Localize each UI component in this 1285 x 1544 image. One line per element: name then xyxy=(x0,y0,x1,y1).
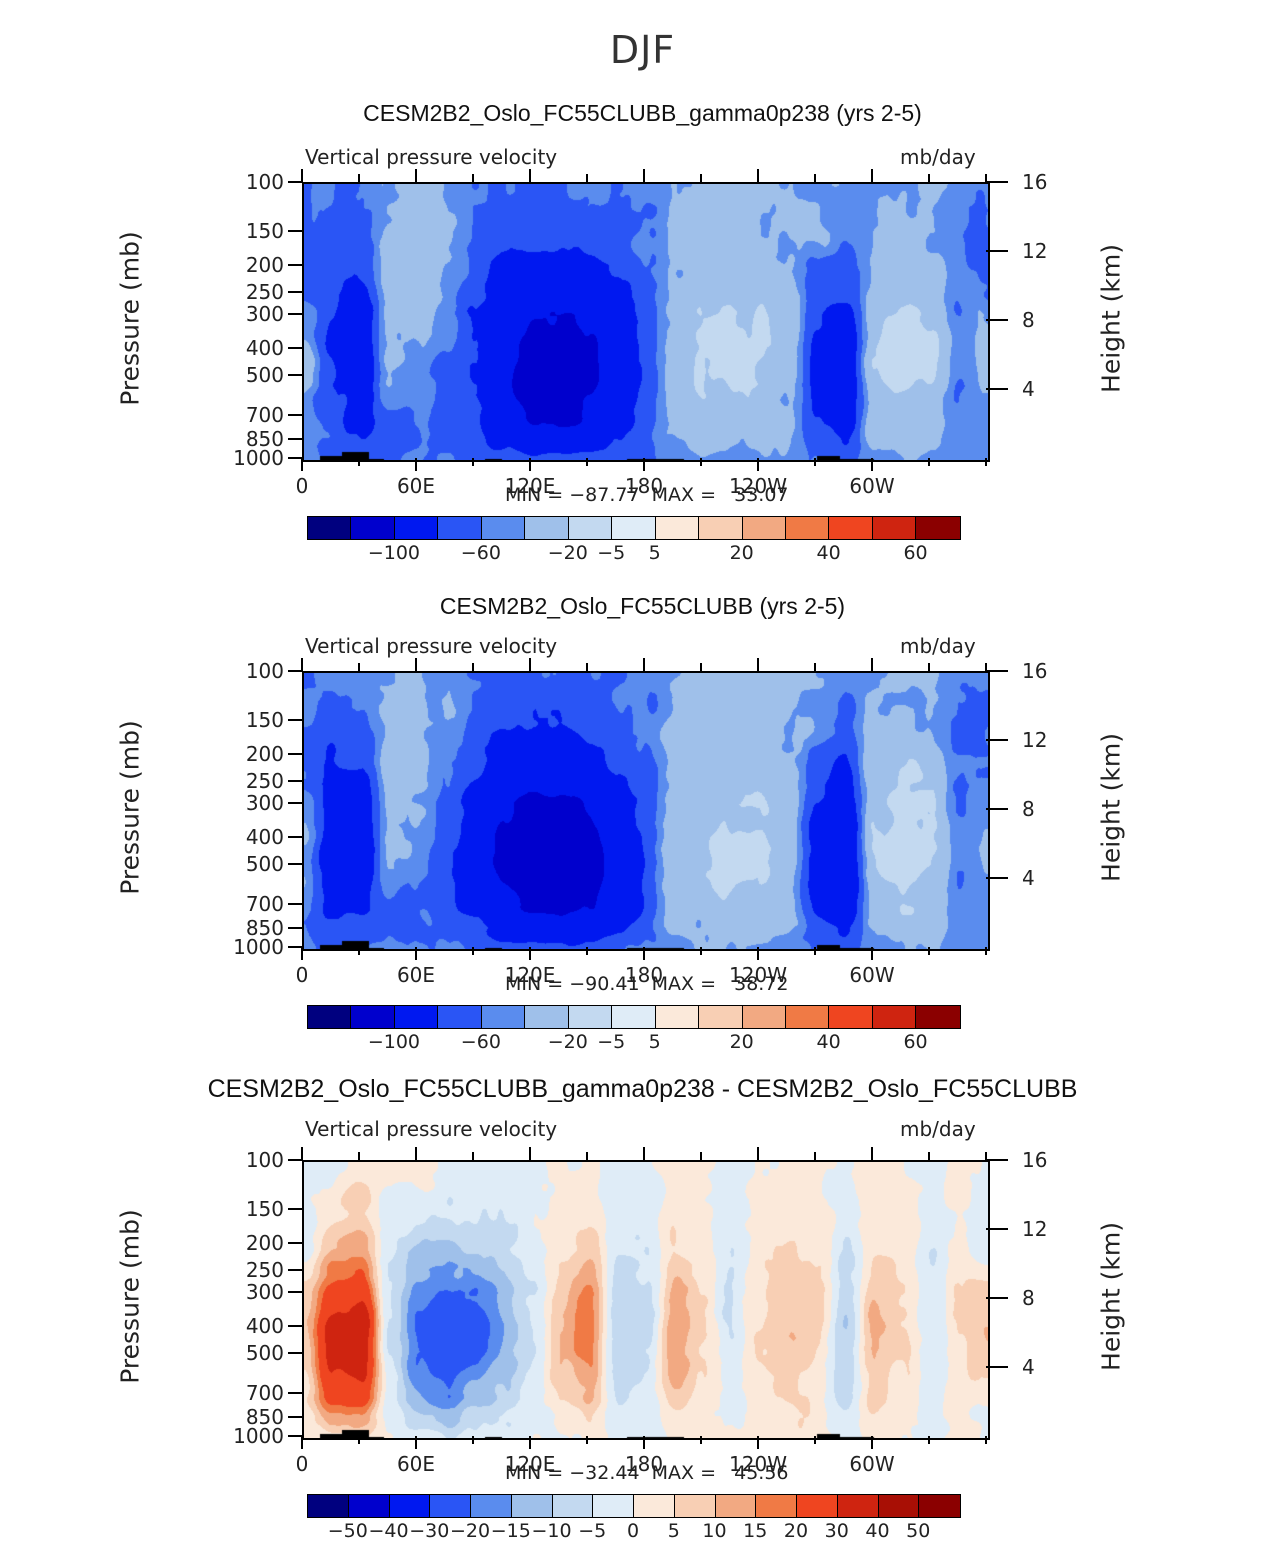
colorbar-segment xyxy=(351,1006,394,1028)
max-label: MAX = xyxy=(640,973,723,995)
pressure-tick-label: 1000 xyxy=(222,1424,284,1448)
colorbar-segment xyxy=(743,517,786,539)
pressure-tick-label: 500 xyxy=(222,363,284,387)
pressure-tick-label: 150 xyxy=(222,708,284,732)
lon-tick-mark xyxy=(586,458,588,466)
lon-tick-mark-top xyxy=(358,1152,360,1160)
pressure-tick-mark xyxy=(288,753,302,755)
colorbar-labels: −100−60−20−55204060 xyxy=(307,1031,959,1055)
colorbar-tick-label: −15 xyxy=(491,1520,531,1542)
max-label: MAX = xyxy=(640,484,723,506)
lon-tick-mark xyxy=(415,458,417,471)
lon-tick-label: 60W xyxy=(849,474,894,498)
colorbar-segment xyxy=(593,1495,634,1517)
pressure-tick-label: 700 xyxy=(222,1381,284,1405)
colorbar-segment xyxy=(873,517,916,539)
lon-tick-mark xyxy=(301,1436,303,1449)
lon-tick-mark xyxy=(415,947,417,960)
lon-tick-mark xyxy=(358,458,360,466)
min-max-annotation: MIN = −90.41 MAX = 38.72 xyxy=(505,973,789,995)
lon-tick-mark xyxy=(472,1436,474,1444)
colorbar-segment xyxy=(829,517,872,539)
pressure-tick-mark xyxy=(288,1291,302,1293)
lon-tick-mark-top xyxy=(985,174,987,182)
height-tick-mark xyxy=(986,808,1008,810)
lon-tick-mark-top xyxy=(928,1152,930,1160)
pressure-tick-mark xyxy=(288,1416,302,1418)
lon-tick-label: 0 xyxy=(296,963,309,987)
height-tick-mark xyxy=(986,319,1008,321)
lon-tick-mark xyxy=(643,1436,645,1449)
colorbar-segment xyxy=(873,1006,916,1028)
colorbar-segment xyxy=(916,1006,959,1028)
colorbar-segment xyxy=(482,517,525,539)
pressure-tick-label: 500 xyxy=(222,1341,284,1365)
y2-axis-label: Height (km) xyxy=(1097,713,1126,903)
colorbar-segment xyxy=(308,517,351,539)
lon-tick-mark xyxy=(757,1436,759,1449)
colorbar xyxy=(307,1494,961,1518)
units-label: mb/day xyxy=(900,634,976,658)
height-tick-label: 16 xyxy=(1022,659,1047,683)
pressure-tick-mark xyxy=(288,414,302,416)
lon-tick-label: 0 xyxy=(296,474,309,498)
colorbar-segment xyxy=(786,1006,829,1028)
colorbar xyxy=(307,1005,961,1029)
colorbar-tick-label: −60 xyxy=(461,542,501,564)
lon-tick-mark xyxy=(757,947,759,960)
colorbar-tick-label: −10 xyxy=(531,1520,571,1542)
colorbar-tick-label: −100 xyxy=(368,542,420,564)
colorbar-segment xyxy=(430,1495,471,1517)
min-value: −90.41 xyxy=(569,973,639,995)
colorbar-segment xyxy=(553,1495,594,1517)
colorbar-segment xyxy=(656,1006,699,1028)
pressure-tick-mark xyxy=(288,438,302,440)
lon-tick-mark xyxy=(757,458,759,471)
pressure-tick-label: 250 xyxy=(222,769,284,793)
pressure-tick-label: 700 xyxy=(222,403,284,427)
pressure-tick-label: 500 xyxy=(222,852,284,876)
max-value: 38.72 xyxy=(722,973,788,995)
lon-tick-mark-top xyxy=(586,174,588,182)
plot-area xyxy=(302,671,990,951)
pressure-tick-label: 1000 xyxy=(222,935,284,959)
colorbar-tick-label: 50 xyxy=(906,1520,930,1542)
lon-tick-mark-top xyxy=(985,663,987,671)
pressure-tick-label: 250 xyxy=(222,280,284,304)
colorbar-tick-label: 5 xyxy=(649,1031,661,1053)
colorbar-segment xyxy=(438,517,481,539)
lon-tick-mark-top xyxy=(472,663,474,671)
colorbar-segment xyxy=(308,1495,349,1517)
colorbar-tick-label: −5 xyxy=(578,1520,606,1542)
min-max-annotation: MIN = −87.77 MAX = 33.07 xyxy=(505,484,789,506)
colorbar-segment xyxy=(438,1006,481,1028)
lon-tick-mark xyxy=(358,947,360,955)
colorbar-segment xyxy=(634,1495,675,1517)
colorbar-tick-label: −5 xyxy=(597,1031,625,1053)
colorbar-tick-label: 40 xyxy=(817,1031,841,1053)
colorbar-tick-label: 0 xyxy=(627,1520,639,1542)
height-tick-mark xyxy=(986,181,1008,183)
colorbar-segment xyxy=(569,517,612,539)
lon-tick-mark-top xyxy=(757,658,759,671)
variable-label: Vertical pressure velocity xyxy=(305,1117,557,1141)
colorbar-labels: −100−60−20−55204060 xyxy=(307,542,959,566)
pressure-tick-mark xyxy=(288,347,302,349)
lon-tick-mark xyxy=(472,458,474,466)
pressure-tick-label: 300 xyxy=(222,302,284,326)
colorbar-tick-label: 15 xyxy=(743,1520,767,1542)
colorbar-tick-label: −100 xyxy=(368,1031,420,1053)
lon-tick-mark xyxy=(643,947,645,960)
variable-label: Vertical pressure velocity xyxy=(305,634,557,658)
colorbar-segment xyxy=(525,517,568,539)
lon-tick-mark-top xyxy=(301,658,303,671)
colorbar-segment xyxy=(829,1006,872,1028)
pressure-tick-mark xyxy=(288,1392,302,1394)
y-axis-label: Pressure (mb) xyxy=(116,219,145,419)
colorbar-tick-label: 10 xyxy=(702,1520,726,1542)
colorbar-segment xyxy=(716,1495,757,1517)
lon-tick-mark xyxy=(985,947,987,955)
lon-tick-mark xyxy=(643,458,645,471)
y-axis-label: Pressure (mb) xyxy=(116,708,145,908)
min-value: −32.44 xyxy=(569,1462,639,1484)
pressure-tick-mark xyxy=(288,1325,302,1327)
height-tick-label: 16 xyxy=(1022,170,1047,194)
lon-tick-mark-top xyxy=(586,663,588,671)
pressure-tick-label: 300 xyxy=(222,791,284,815)
lon-tick-mark xyxy=(586,947,588,955)
lon-tick-mark-top xyxy=(529,1147,531,1160)
colorbar-segment xyxy=(612,1006,655,1028)
height-tick-label: 4 xyxy=(1022,377,1035,401)
colorbar-tick-label: 5 xyxy=(649,542,661,564)
lon-tick-mark-top xyxy=(415,169,417,182)
lon-tick-mark-top xyxy=(985,1152,987,1160)
lon-tick-mark xyxy=(415,1436,417,1449)
pressure-tick-mark xyxy=(288,802,302,804)
colorbar-segment xyxy=(612,517,655,539)
height-tick-label: 4 xyxy=(1022,866,1035,890)
pressure-tick-mark xyxy=(288,780,302,782)
lon-tick-mark-top xyxy=(643,169,645,182)
pressure-tick-label: 150 xyxy=(222,1197,284,1221)
pressure-tick-mark xyxy=(288,291,302,293)
lon-tick-mark xyxy=(814,458,816,466)
colorbar-tick-label: 20 xyxy=(730,542,754,564)
pressure-tick-mark xyxy=(288,946,302,948)
lon-tick-mark xyxy=(586,1436,588,1444)
lon-tick-label: 60E xyxy=(397,963,435,987)
lon-tick-label: 60W xyxy=(849,963,894,987)
height-tick-label: 8 xyxy=(1022,1286,1035,1310)
colorbar-segment xyxy=(395,517,438,539)
colorbar-segment xyxy=(525,1006,568,1028)
lon-tick-mark-top xyxy=(700,1152,702,1160)
y2-axis-label: Height (km) xyxy=(1097,224,1126,414)
pressure-tick-label: 1000 xyxy=(222,446,284,470)
lon-tick-mark-top xyxy=(757,169,759,182)
lon-tick-mark xyxy=(985,1436,987,1444)
lon-tick-mark-top xyxy=(358,174,360,182)
panel-title: CESM2B2_Oslo_FC55CLUBB_gamma0p238 (yrs 2… xyxy=(0,100,1285,127)
pressure-tick-label: 250 xyxy=(222,1258,284,1282)
colorbar-segment xyxy=(512,1495,553,1517)
lon-tick-mark-top xyxy=(757,1147,759,1160)
lon-tick-mark xyxy=(871,458,873,471)
colorbar-segment xyxy=(390,1495,431,1517)
colorbar-tick-label: 30 xyxy=(825,1520,849,1542)
lon-tick-mark-top xyxy=(529,169,531,182)
lon-tick-mark xyxy=(700,947,702,955)
lon-tick-mark xyxy=(871,1436,873,1449)
height-tick-mark xyxy=(986,1228,1008,1230)
lon-tick-mark xyxy=(814,947,816,955)
lon-tick-mark xyxy=(985,458,987,466)
lon-tick-mark-top xyxy=(871,658,873,671)
colorbar-tick-label: −5 xyxy=(597,542,625,564)
colorbar-segment xyxy=(699,517,742,539)
lon-tick-mark-top xyxy=(928,174,930,182)
colorbar-labels: −50−40−30−20−15−10−505101520304050 xyxy=(307,1520,959,1544)
colorbar-segment xyxy=(482,1006,525,1028)
colorbar-segment xyxy=(879,1495,920,1517)
height-tick-label: 4 xyxy=(1022,1355,1035,1379)
lon-tick-mark-top xyxy=(472,174,474,182)
max-value: 45.56 xyxy=(722,1462,788,1484)
plot-area xyxy=(302,1160,990,1440)
colorbar-segment xyxy=(916,517,959,539)
pressure-tick-label: 700 xyxy=(222,892,284,916)
pressure-tick-mark xyxy=(288,374,302,376)
lon-tick-mark-top xyxy=(814,1152,816,1160)
height-tick-mark xyxy=(986,1366,1008,1368)
height-tick-label: 8 xyxy=(1022,797,1035,821)
colorbar-tick-label: −50 xyxy=(328,1520,368,1542)
height-tick-mark xyxy=(986,670,1008,672)
colorbar xyxy=(307,516,961,540)
colorbar-tick-label: 20 xyxy=(784,1520,808,1542)
pressure-tick-mark xyxy=(288,1242,302,1244)
pressure-tick-label: 200 xyxy=(222,742,284,766)
pressure-tick-mark xyxy=(288,264,302,266)
height-tick-mark xyxy=(986,1159,1008,1161)
colorbar-segment xyxy=(569,1006,612,1028)
pressure-tick-mark xyxy=(288,670,302,672)
lon-tick-mark xyxy=(301,947,303,960)
height-tick-mark xyxy=(986,388,1008,390)
colorbar-segment xyxy=(786,517,829,539)
colorbar-tick-label: 20 xyxy=(730,1031,754,1053)
colorbar-segment xyxy=(395,1006,438,1028)
pressure-tick-mark xyxy=(288,181,302,183)
colorbar-segment xyxy=(675,1495,716,1517)
lon-tick-mark-top xyxy=(643,1147,645,1160)
colorbar-segment xyxy=(797,1495,838,1517)
pressure-tick-mark xyxy=(288,1208,302,1210)
pressure-tick-label: 400 xyxy=(222,336,284,360)
colorbar-segment xyxy=(919,1495,960,1517)
lon-tick-mark-top xyxy=(415,1147,417,1160)
colorbar-tick-label: 60 xyxy=(903,1031,927,1053)
height-tick-label: 16 xyxy=(1022,1148,1047,1172)
lon-tick-mark xyxy=(928,458,930,466)
height-tick-label: 12 xyxy=(1022,728,1047,752)
colorbar-segment xyxy=(308,1006,351,1028)
pressure-tick-label: 100 xyxy=(222,1148,284,1172)
height-tick-label: 12 xyxy=(1022,1217,1047,1241)
colorbar-segment xyxy=(756,1495,797,1517)
height-tick-mark xyxy=(986,250,1008,252)
pressure-tick-mark xyxy=(288,1435,302,1437)
pressure-tick-label: 100 xyxy=(222,659,284,683)
colorbar-tick-label: −20 xyxy=(450,1520,490,1542)
lon-tick-mark xyxy=(529,947,531,960)
min-label: MIN = xyxy=(505,1462,569,1484)
units-label: mb/day xyxy=(900,145,976,169)
lon-tick-mark-top xyxy=(586,1152,588,1160)
colorbar-tick-label: 40 xyxy=(817,542,841,564)
panel-title: CESM2B2_Oslo_FC55CLUBB_gamma0p238 - CESM… xyxy=(0,1075,1285,1104)
lon-tick-mark-top xyxy=(301,1147,303,1160)
lon-tick-label: 0 xyxy=(296,1452,309,1476)
pressure-tick-mark xyxy=(288,230,302,232)
lon-tick-mark-top xyxy=(928,663,930,671)
y2-axis-label: Height (km) xyxy=(1097,1202,1126,1392)
pressure-tick-label: 300 xyxy=(222,1280,284,1304)
colorbar-tick-label: 40 xyxy=(865,1520,889,1542)
lon-tick-mark-top xyxy=(871,1147,873,1160)
height-tick-label: 8 xyxy=(1022,308,1035,332)
lon-tick-mark-top xyxy=(301,169,303,182)
lon-tick-mark xyxy=(700,1436,702,1444)
lon-tick-mark-top xyxy=(358,663,360,671)
colorbar-segment xyxy=(838,1495,879,1517)
lon-tick-mark-top xyxy=(871,169,873,182)
lon-tick-mark-top xyxy=(415,658,417,671)
lon-tick-mark xyxy=(871,947,873,960)
colorbar-tick-label: −30 xyxy=(409,1520,449,1542)
colorbar-segment xyxy=(743,1006,786,1028)
pressure-tick-mark xyxy=(288,1159,302,1161)
height-tick-mark xyxy=(986,739,1008,741)
colorbar-tick-label: −40 xyxy=(368,1520,408,1542)
colorbar-segment xyxy=(699,1006,742,1028)
colorbar-tick-label: 60 xyxy=(903,542,927,564)
colorbar-tick-label: 5 xyxy=(668,1520,680,1542)
pressure-tick-mark xyxy=(288,903,302,905)
lon-tick-mark-top xyxy=(529,658,531,671)
colorbar-segment xyxy=(351,517,394,539)
height-tick-mark xyxy=(986,877,1008,879)
min-label: MIN = xyxy=(505,484,569,506)
lon-tick-mark xyxy=(358,1436,360,1444)
pressure-tick-mark xyxy=(288,719,302,721)
pressure-tick-mark xyxy=(288,836,302,838)
pressure-tick-label: 100 xyxy=(222,170,284,194)
lon-tick-mark xyxy=(928,1436,930,1444)
pressure-tick-mark xyxy=(288,457,302,459)
pressure-tick-label: 200 xyxy=(222,253,284,277)
variable-label: Vertical pressure velocity xyxy=(305,145,557,169)
figure-supertitle: DJF xyxy=(0,28,1285,72)
pressure-tick-label: 200 xyxy=(222,1231,284,1255)
colorbar-segment xyxy=(349,1495,390,1517)
pressure-tick-mark xyxy=(288,1352,302,1354)
lon-tick-mark xyxy=(700,458,702,466)
lon-tick-label: 60E xyxy=(397,474,435,498)
min-value: −87.77 xyxy=(569,484,639,506)
lon-tick-mark-top xyxy=(814,174,816,182)
lon-tick-mark-top xyxy=(700,663,702,671)
lon-tick-mark xyxy=(814,1436,816,1444)
min-max-annotation: MIN = −32.44 MAX = 45.56 xyxy=(505,1462,789,1484)
min-label: MIN = xyxy=(505,973,569,995)
pressure-tick-mark xyxy=(288,927,302,929)
colorbar-segment xyxy=(656,517,699,539)
panel-title: CESM2B2_Oslo_FC55CLUBB (yrs 2-5) xyxy=(0,593,1285,620)
lon-tick-mark-top xyxy=(643,658,645,671)
max-value: 33.07 xyxy=(722,484,788,506)
lon-tick-label: 60E xyxy=(397,1452,435,1476)
pressure-tick-mark xyxy=(288,313,302,315)
units-label: mb/day xyxy=(900,1117,976,1141)
lon-tick-mark xyxy=(529,458,531,471)
lon-tick-mark xyxy=(472,947,474,955)
pressure-tick-mark xyxy=(288,863,302,865)
height-tick-mark xyxy=(986,1297,1008,1299)
pressure-tick-label: 400 xyxy=(222,825,284,849)
y-axis-label: Pressure (mb) xyxy=(116,1197,145,1397)
max-label: MAX = xyxy=(640,1462,723,1484)
lon-tick-mark-top xyxy=(472,1152,474,1160)
lon-tick-mark xyxy=(301,458,303,471)
lon-tick-mark-top xyxy=(814,663,816,671)
colorbar-tick-label: −20 xyxy=(548,1031,588,1053)
lon-tick-mark-top xyxy=(700,174,702,182)
lon-tick-mark xyxy=(928,947,930,955)
height-tick-label: 12 xyxy=(1022,239,1047,263)
colorbar-tick-label: −60 xyxy=(461,1031,501,1053)
lon-tick-label: 60W xyxy=(849,1452,894,1476)
pressure-tick-mark xyxy=(288,1269,302,1271)
pressure-tick-label: 150 xyxy=(222,219,284,243)
plot-area xyxy=(302,182,990,462)
colorbar-tick-label: −20 xyxy=(548,542,588,564)
pressure-tick-label: 400 xyxy=(222,1314,284,1338)
lon-tick-mark xyxy=(529,1436,531,1449)
colorbar-segment xyxy=(471,1495,512,1517)
